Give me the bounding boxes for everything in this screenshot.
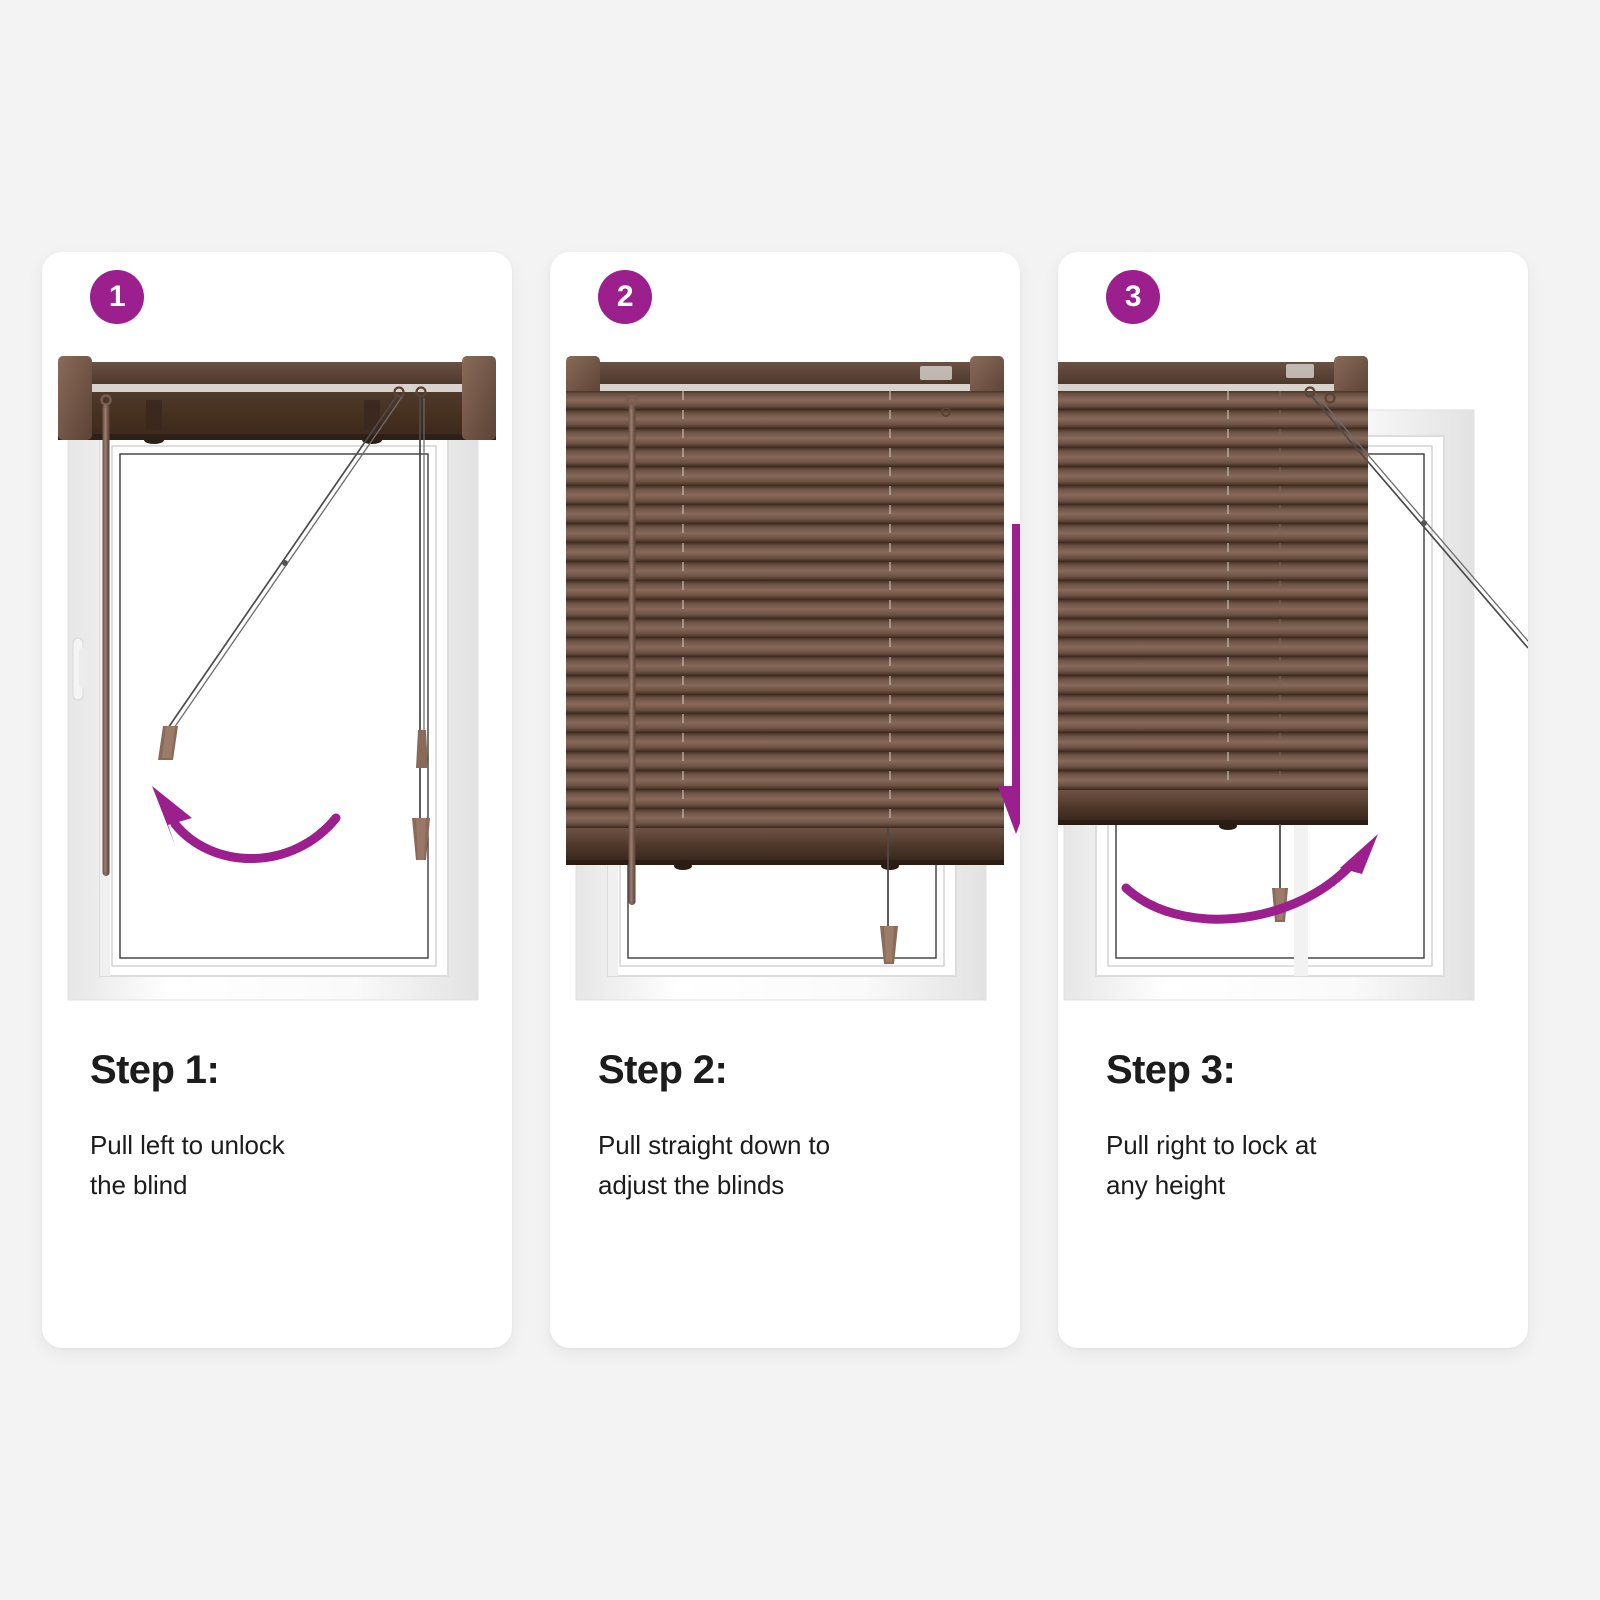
step-card-1: 1 — [42, 252, 512, 1348]
caption-step-3: Step 3: Pull right to lock at any height — [1106, 1050, 1492, 1205]
step-title-1: Step 1: — [90, 1050, 476, 1090]
step-title-3: Step 3: — [1106, 1050, 1492, 1090]
blind-headrail — [58, 356, 496, 444]
instruction-steps-page: 1 — [0, 0, 1600, 1600]
tilt-wand — [102, 396, 111, 877]
step-badge-1: 1 — [90, 270, 144, 324]
step-description-2: Pull straight down to adjust the blinds — [598, 1126, 984, 1205]
illustration-step-3 — [1058, 348, 1528, 1008]
window-frame — [68, 410, 478, 1000]
step-description-3: Pull right to lock at any height — [1106, 1126, 1492, 1205]
step-badge-3: 3 — [1106, 270, 1160, 324]
blind-slats-partial — [1058, 391, 1368, 830]
blind-headrail — [1058, 356, 1368, 396]
step-title-2: Step 2: — [598, 1050, 984, 1090]
caption-step-2: Step 2: Pull straight down to adjust the… — [598, 1050, 984, 1205]
blind-headrail — [566, 356, 1004, 396]
step-badge-2: 2 — [598, 270, 652, 324]
illustration-step-1 — [42, 348, 512, 1008]
step-description-1: Pull left to unlock the blind — [90, 1126, 476, 1205]
step-card-2: 2 — [550, 252, 1020, 1348]
caption-step-1: Step 1: Pull left to unlock the blind — [90, 1050, 476, 1205]
tilt-wand — [628, 397, 637, 906]
step-card-3: 3 — [1058, 252, 1528, 1348]
illustration-step-2 — [550, 348, 1020, 1008]
